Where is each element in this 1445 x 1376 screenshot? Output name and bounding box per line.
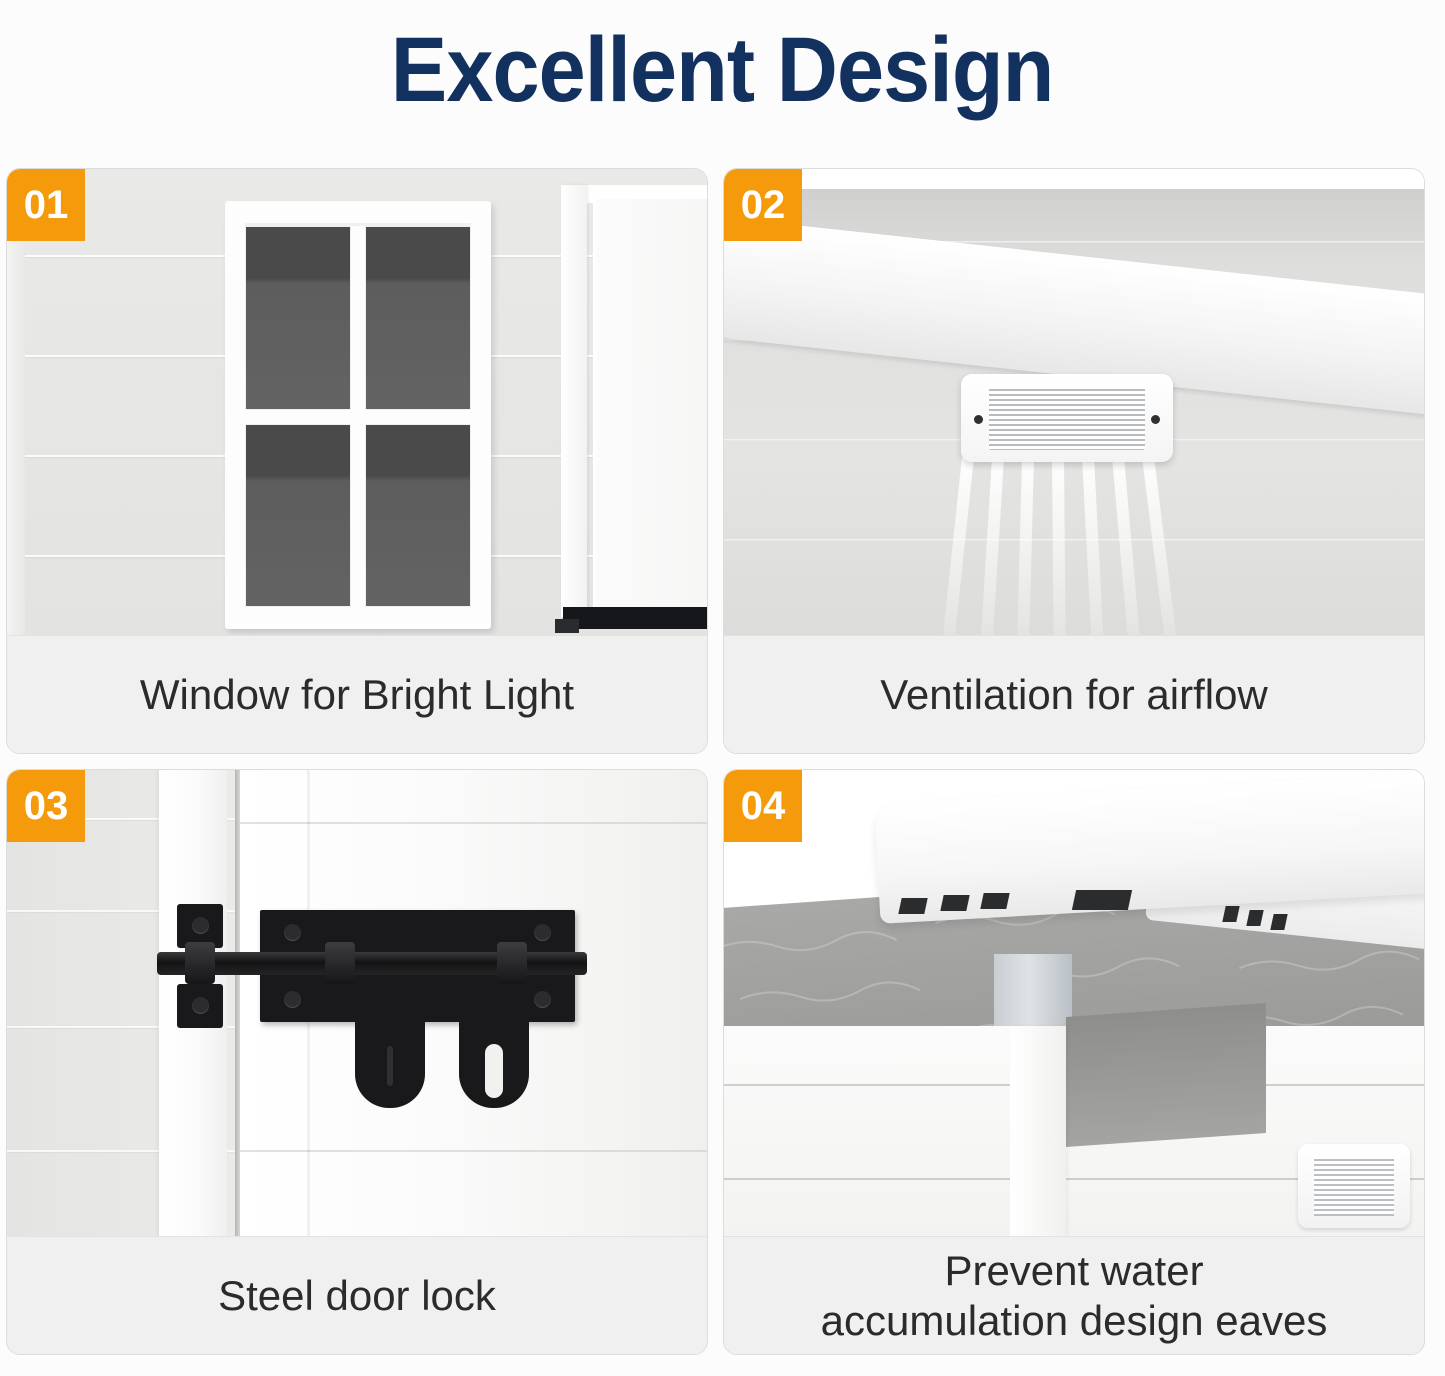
vent-screw-right [1151, 415, 1160, 424]
feature-card-02[interactable]: 02 Ventilation for airflow [723, 168, 1425, 754]
feature-card-01[interactable]: 01 Window for Bright Light [6, 168, 708, 754]
card-photo-eaves: 04 [724, 770, 1424, 1236]
vent-louvers [989, 386, 1145, 450]
lock-bolt-collar [325, 942, 355, 984]
card-caption-04: Prevent water accumulation design eaves [724, 1236, 1424, 1354]
card-caption-03: Steel door lock [7, 1236, 707, 1354]
card-caption-01: Window for Bright Light [7, 635, 707, 753]
door-center-seam [235, 770, 240, 1236]
drain-notch [940, 895, 969, 911]
vent-screw-left [974, 415, 983, 424]
page-title: Excellent Design [391, 24, 1054, 116]
drain-notch [980, 893, 1009, 909]
lock-bolt-collar [497, 942, 527, 984]
card-photo-vent: 02 [724, 169, 1424, 635]
window-pane [365, 226, 471, 410]
feature-card-03[interactable]: 03 Steel door lock [6, 769, 708, 1355]
badge-03: 03 [7, 770, 85, 842]
window-pane [245, 424, 351, 608]
door-frame-post [561, 185, 587, 617]
window-frame-icon [225, 201, 491, 629]
lock-tab-nick [387, 1046, 393, 1086]
lock-padlock-slot [485, 1044, 503, 1098]
caption-line-1: Prevent water [944, 1246, 1203, 1296]
corner-post-lower [1010, 1026, 1066, 1236]
badge-04: 04 [724, 770, 802, 842]
lock-hasp-tab [355, 1016, 425, 1108]
wall-shadow [1066, 1003, 1266, 1147]
lock-hasp-tab-slotted [459, 1016, 529, 1108]
drain-notch [1072, 890, 1132, 910]
feature-card-grid: 01 Window for Bright Light [6, 168, 1439, 1370]
card-caption-02: Ventilation for airflow [724, 635, 1424, 753]
infographic-page: Excellent Design [0, 0, 1445, 1376]
card-photo-lock: 03 [7, 770, 707, 1236]
drain-notch [898, 898, 927, 914]
door-threshold [563, 607, 707, 629]
lock-bolt-collar [185, 942, 215, 984]
door-frame-inner [593, 199, 707, 617]
wall-vent-icon [961, 374, 1173, 462]
badge-02: 02 [724, 169, 802, 241]
vent-louvers [1314, 1156, 1394, 1216]
window-pane [245, 226, 351, 410]
caption-line-1: Ventilation for airflow [880, 670, 1268, 720]
door-threshold-end [555, 619, 579, 633]
page-header: Excellent Design [0, 0, 1445, 140]
caption-line-1: Window for Bright Light [140, 670, 574, 720]
caption-line-2: accumulation design eaves [821, 1296, 1328, 1346]
feature-card-04[interactable]: 04 Prevent water accumulation design eav… [723, 769, 1425, 1355]
lower-wall-vent-icon [1298, 1144, 1410, 1228]
caption-line-1: Steel door lock [218, 1271, 496, 1321]
badge-01: 01 [7, 169, 85, 241]
card-photo-window: 01 [7, 169, 707, 635]
window-pane [365, 424, 471, 608]
